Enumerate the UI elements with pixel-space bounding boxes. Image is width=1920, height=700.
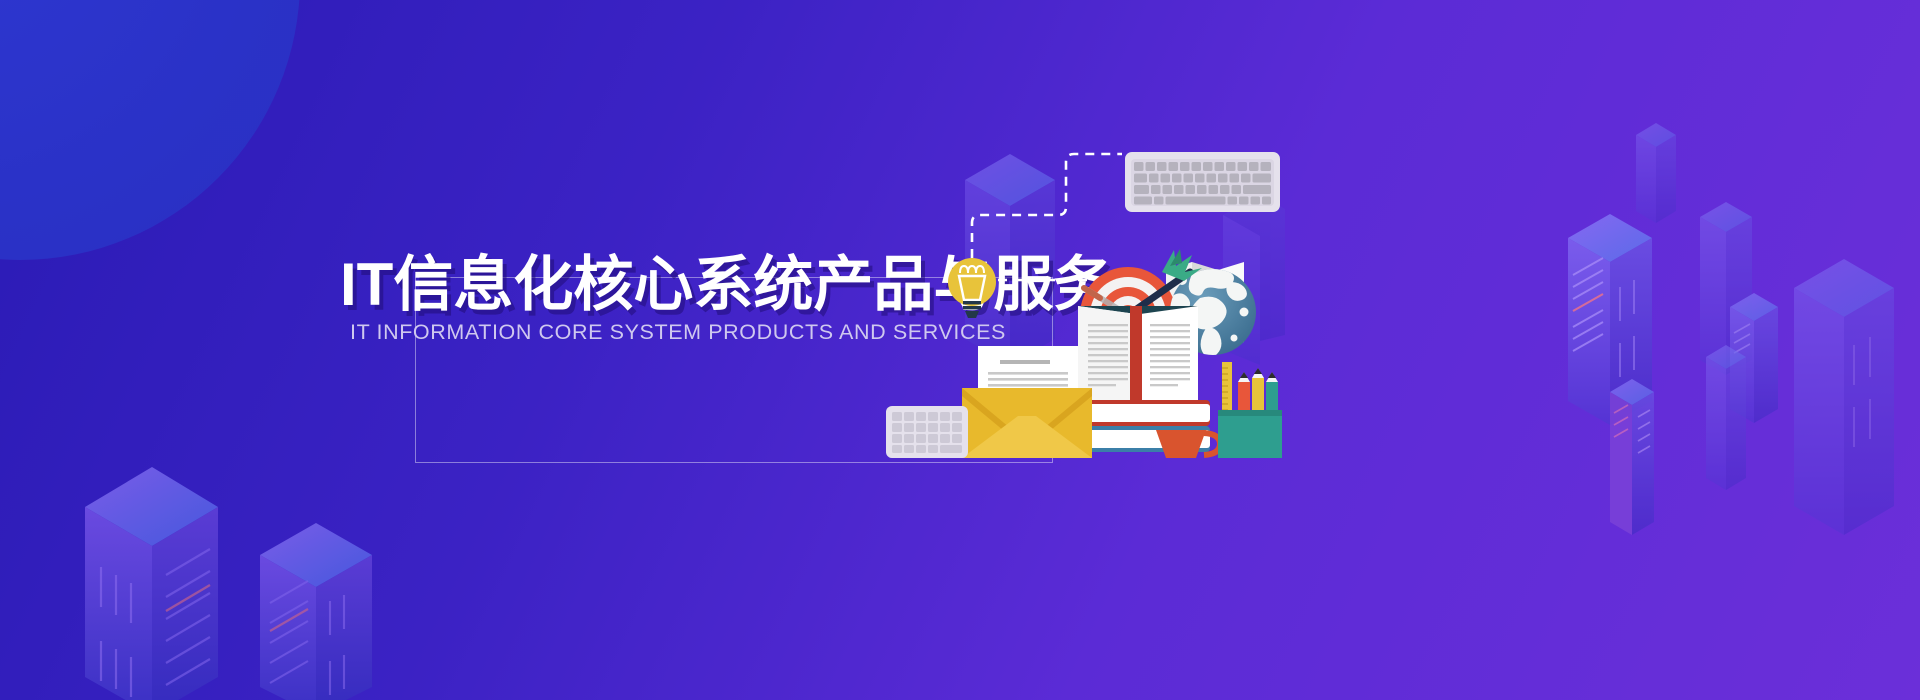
building-short [260, 523, 372, 700]
circle-top-left [0, 0, 300, 260]
lightbulb-icon [948, 258, 996, 318]
building-slim-top [1636, 123, 1676, 223]
building-medium-center [1700, 202, 1752, 375]
keyboard-small-icon [886, 406, 968, 458]
building-large-block [1794, 259, 1894, 535]
building-pink-accent [1610, 379, 1654, 535]
ground-line [886, 454, 1282, 460]
dashed-connector-line [972, 154, 1122, 280]
building-tall [85, 467, 218, 700]
hero-banner: IT信息化核心系统产品与服务 IT INFORMATION CORE SYSTE… [0, 0, 1920, 700]
keyboard-icon [1125, 152, 1280, 212]
pencil-holder-icon [1218, 362, 1282, 458]
hero-illustration [900, 110, 1280, 470]
building-bottom-slim [1706, 345, 1746, 490]
building-detailed [1568, 214, 1652, 425]
building-cluster-right [1548, 95, 1920, 595]
envelope-icon [962, 388, 1092, 458]
coffee-cup-icon [1156, 430, 1220, 458]
building-small-lined [1730, 293, 1778, 423]
